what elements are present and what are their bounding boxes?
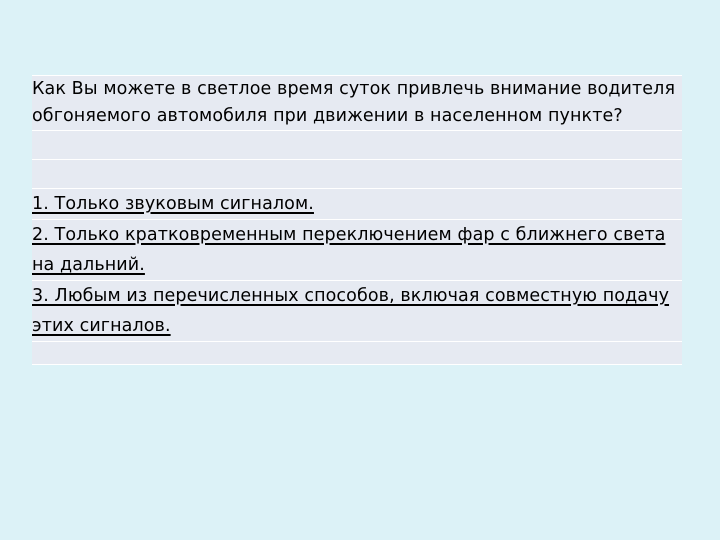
spacer-text-2 — [32, 160, 682, 187]
table-row-spacer-1 — [32, 131, 682, 160]
question-text: Как Вы можете в светлое время суток прив… — [32, 76, 682, 130]
answer-cell-2[interactable]: 2. Только кратковременным переключением … — [32, 220, 682, 281]
answer-option-1-text[interactable]: 1. Только звуковым сигналом. — [32, 189, 682, 219]
table-row-answer-2[interactable]: 2. Только кратковременным переключением … — [32, 220, 682, 281]
table-row-answer-1[interactable]: 1. Только звуковым сигналом. — [32, 189, 682, 220]
table-row-trailing — [32, 342, 682, 365]
table-row-question: Как Вы можете в светлое время суток прив… — [32, 76, 682, 131]
slide-canvas: Как Вы можете в светлое время суток прив… — [0, 0, 720, 540]
table-row-answer-3[interactable]: 3. Любым из перечисленных способов, вклю… — [32, 281, 682, 342]
question-cell: Как Вы можете в светлое время суток прив… — [32, 76, 682, 131]
quiz-table: Как Вы можете в светлое время суток прив… — [32, 75, 682, 365]
quiz-table-body: Как Вы можете в светлое время суток прив… — [32, 76, 682, 365]
answer-option-2-text[interactable]: 2. Только кратковременным переключением … — [32, 220, 682, 280]
answer-option-3-text[interactable]: 3. Любым из перечисленных способов, вклю… — [32, 281, 682, 341]
table-row-spacer-2 — [32, 160, 682, 189]
spacer-cell-1 — [32, 131, 682, 160]
trailing-cell — [32, 342, 682, 365]
answer-cell-1[interactable]: 1. Только звуковым сигналом. — [32, 189, 682, 220]
answer-cell-3[interactable]: 3. Любым из перечисленных способов, вклю… — [32, 281, 682, 342]
spacer-text-1 — [32, 131, 682, 158]
spacer-cell-2 — [32, 160, 682, 189]
